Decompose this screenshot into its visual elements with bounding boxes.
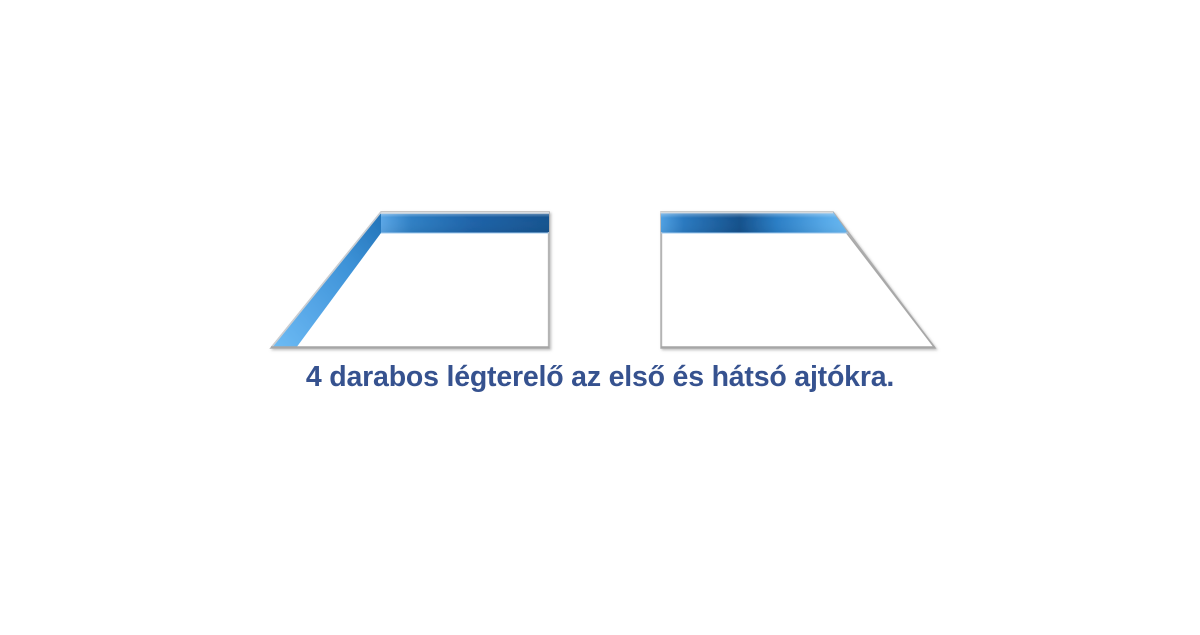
diagram-svg — [0, 0, 1200, 630]
caption-text: 4 darabos légterelő az első és hátsó ajt… — [0, 359, 1200, 395]
front-door-wind-deflector — [271, 212, 549, 348]
rear-deflector-top-band-sheen — [661, 212, 848, 233]
rear-door-wind-deflector — [660, 212, 935, 348]
front-deflector-top-band-sheen — [381, 212, 549, 233]
illustration-page: 4 darabos légterelő az első és hátsó ajt… — [0, 0, 1200, 630]
wind-deflector-diagram — [0, 0, 1200, 630]
